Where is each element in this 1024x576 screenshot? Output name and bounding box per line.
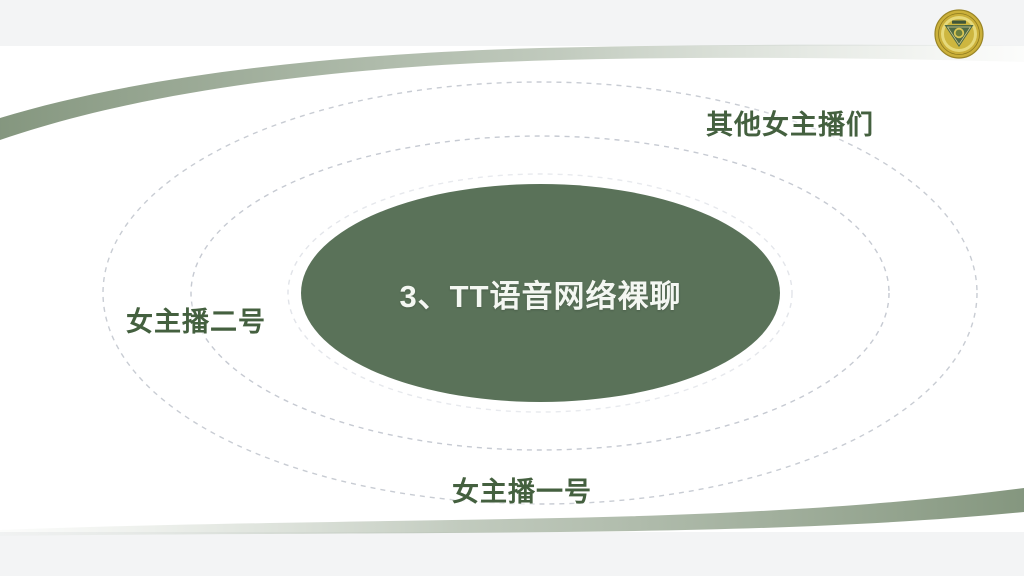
ring-label-inner: 女主播一号 <box>452 470 592 509</box>
ring-label-middle: 女主播二号 <box>126 300 266 339</box>
slide-canvas: 3、TT语音网络裸聊 其他女主播们 女主播二号 女主播一号 <box>0 0 1024 576</box>
core-ellipse-label: 3、TT语音网络裸聊 <box>399 271 681 316</box>
concentric-diagram: 3、TT语音网络裸聊 其他女主播们 女主播二号 女主播一号 <box>0 0 1024 576</box>
core-ellipse: 3、TT语音网络裸聊 <box>301 184 780 402</box>
police-badge-emblem-icon <box>934 9 984 59</box>
ring-label-outer: 其他女主播们 <box>706 103 874 142</box>
